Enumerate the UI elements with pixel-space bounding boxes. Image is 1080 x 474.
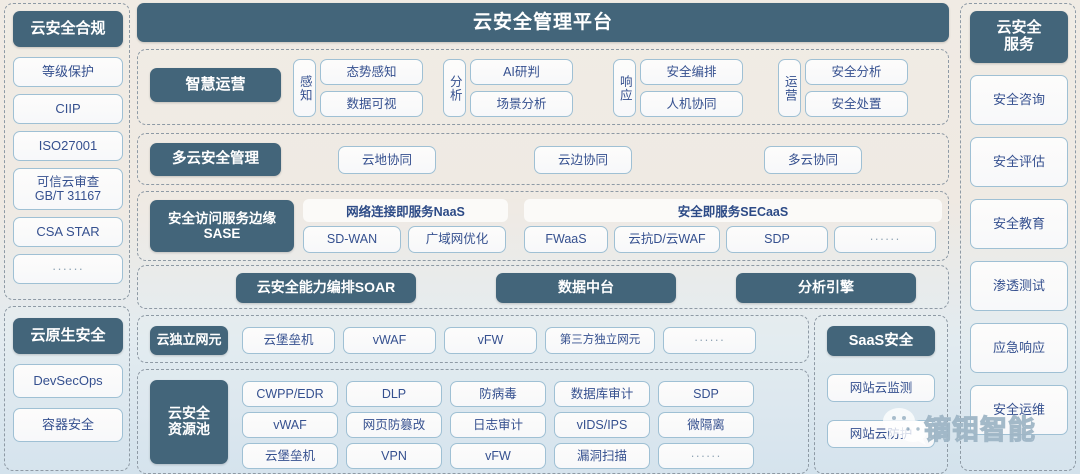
resource-pool-label: 云安全 资源池	[150, 380, 228, 464]
service-item-emergency-response[interactable]: 应急响应	[970, 323, 1068, 373]
ops-chip-security-disposal[interactable]: 安全处置	[805, 91, 908, 117]
ne-chip-vwaf[interactable]: vWAF	[343, 327, 436, 354]
pool-chip-db-audit[interactable]: 数据库审计	[554, 381, 650, 407]
service-item-security-consulting[interactable]: 安全咨询	[970, 75, 1068, 125]
ne-chip-more[interactable]: ······	[663, 327, 756, 354]
compliance-item-trusted-cloud[interactable]: 可信云审查 GB/T 31167	[13, 168, 123, 210]
pool-chip-vids-ips[interactable]: vIDS/IPS	[554, 412, 650, 438]
service-item-security-assessment[interactable]: 安全评估	[970, 137, 1068, 187]
ops-vertical-label-response: 响应	[613, 59, 636, 117]
pool-chip-vfw[interactable]: vFW	[450, 443, 546, 469]
ops-group-response: 响应 安全编排 人机协同	[613, 59, 743, 117]
saas-chip-website-cloud-protection[interactable]: 网站云防护	[827, 420, 935, 448]
ops-group-analysis: 分析 AI研判 场景分析	[443, 59, 573, 117]
compliance-item-more[interactable]: ······	[13, 254, 123, 284]
secaas-chip-anti-ddos-waf[interactable]: 云抗D/云WAF	[614, 226, 720, 253]
pool-chip-dlp[interactable]: DLP	[346, 381, 442, 407]
ops-vertical-label-analysis: 分析	[443, 59, 466, 117]
ops-vertical-label-operations: 运营	[778, 59, 801, 117]
pool-chip-antivirus[interactable]: 防病毒	[450, 381, 546, 407]
pool-chip-bastion-host[interactable]: 云堡垒机	[242, 443, 338, 469]
naas-band-label: 网络连接即服务NaaS	[303, 199, 508, 222]
cloud-native-group-header: 云原生安全	[13, 318, 123, 354]
saas-security-header: SaaS安全	[827, 326, 935, 356]
soar-row: 云安全能力编排SOAR 数据中台 分析引擎	[137, 265, 949, 309]
secaas-chip-sdp[interactable]: SDP	[726, 226, 828, 253]
pool-chip-vwaf[interactable]: vWAF	[242, 412, 338, 438]
saas-chip-website-cloud-monitoring[interactable]: 网站云监测	[827, 374, 935, 402]
cloud-security-architecture-diagram: 云安全合规 等级保护 CIIP ISO27001 可信云审查 GB/T 3116…	[0, 0, 1080, 474]
service-item-penetration-testing[interactable]: 渗透测试	[970, 261, 1068, 311]
secaas-chip-more[interactable]: ······	[834, 226, 936, 253]
ops-vertical-label-perception: 感知	[293, 59, 316, 117]
compliance-item-iso27001[interactable]: ISO27001	[13, 131, 123, 161]
cloud-network-element-label: 云独立网元	[150, 326, 228, 355]
smart-operations-label: 智慧运营	[150, 68, 281, 102]
pool-chip-sdp[interactable]: SDP	[658, 381, 754, 407]
cloud-security-service-header: 云安全 服务	[970, 11, 1068, 63]
naas-chip-wan-optimization[interactable]: 广域网优化	[408, 226, 506, 253]
multi-cloud-chip-multi-cloud[interactable]: 多云协同	[764, 146, 862, 174]
compliance-group-header: 云安全合规	[13, 11, 123, 47]
compliance-item-csa-star[interactable]: CSA STAR	[13, 217, 123, 247]
multi-cloud-management-row: 多云安全管理 云地协同 云边协同 多云协同	[137, 133, 949, 185]
secaas-chip-fwaas[interactable]: FWaaS	[524, 226, 608, 253]
cloud-native-item-devsecops[interactable]: DevSecOps	[13, 364, 123, 398]
sase-row: 安全访问服务边缘 SASE 网络连接即服务NaaS SD-WAN 广域网优化 安…	[137, 191, 949, 261]
cloud-security-resource-pool-row: 云安全 资源池 CWPP/EDR DLP 防病毒 数据库审计 SDP vWAF …	[137, 369, 809, 474]
secaas-column: 安全即服务SECaaS FWaaS 云抗D/云WAF SDP ······	[524, 199, 942, 255]
ne-chip-vfw[interactable]: vFW	[444, 327, 537, 354]
saas-security-group: SaaS安全 网站云监测 网站云防护	[814, 315, 948, 474]
ops-chip-security-analytics[interactable]: 安全分析	[805, 59, 908, 85]
cloud-network-element-row: 云独立网元 云堡垒机 vWAF vFW 第三方独立网元 ······	[137, 315, 809, 363]
pool-chip-web-tamper[interactable]: 网页防篡改	[346, 412, 442, 438]
pool-chip-log-audit[interactable]: 日志审计	[450, 412, 546, 438]
left-rail: 云安全合规 等级保护 CIIP ISO27001 可信云审查 GB/T 3116…	[4, 3, 130, 471]
ops-chip-data-visualization[interactable]: 数据可视	[320, 91, 423, 117]
ops-chip-scenario-analysis[interactable]: 场景分析	[470, 91, 573, 117]
naas-column: 网络连接即服务NaaS SD-WAN 广域网优化	[303, 199, 508, 255]
soar-chip-cloud-orchestration[interactable]: 云安全能力编排SOAR	[236, 273, 416, 303]
service-item-security-operations[interactable]: 安全运维	[970, 385, 1068, 435]
soar-chip-analysis-engine[interactable]: 分析引擎	[736, 273, 916, 303]
ops-chip-human-machine-collab[interactable]: 人机协同	[640, 91, 743, 117]
page-title: 云安全管理平台	[137, 3, 949, 42]
secaas-band-label: 安全即服务SECaaS	[524, 199, 942, 222]
ne-chip-third-party[interactable]: 第三方独立网元	[545, 327, 655, 354]
ops-group-perception: 感知 态势感知 数据可视	[293, 59, 423, 117]
multi-cloud-chip-cloud-edge[interactable]: 云边协同	[534, 146, 632, 174]
soar-chip-data-platform[interactable]: 数据中台	[496, 273, 676, 303]
multi-cloud-label: 多云安全管理	[150, 143, 281, 176]
cloud-native-item-container-security[interactable]: 容器安全	[13, 408, 123, 442]
pool-chip-vuln-scan[interactable]: 漏洞扫描	[554, 443, 650, 469]
smart-operations-row: 智慧运营 感知 态势感知 数据可视 分析 AI研判 场景分析 响应 安全编排	[137, 49, 949, 125]
naas-chip-sd-wan[interactable]: SD-WAN	[303, 226, 401, 253]
cloud-native-security-group: 云原生安全 DevSecOps 容器安全	[4, 306, 130, 471]
pool-chip-vpn[interactable]: VPN	[346, 443, 442, 469]
sase-label: 安全访问服务边缘 SASE	[150, 200, 294, 252]
ops-chip-situational-awareness[interactable]: 态势感知	[320, 59, 423, 85]
ne-chip-bastion-host[interactable]: 云堡垒机	[242, 327, 335, 354]
multi-cloud-chip-cloud-ground[interactable]: 云地协同	[338, 146, 436, 174]
ops-chip-ai-judgement[interactable]: AI研判	[470, 59, 573, 85]
compliance-item-ciip[interactable]: CIIP	[13, 94, 123, 124]
pool-chip-cwpp-edr[interactable]: CWPP/EDR	[242, 381, 338, 407]
compliance-item-dengbao[interactable]: 等级保护	[13, 57, 123, 87]
right-rail: 云安全 服务 安全咨询 安全评估 安全教育 渗透测试 应急响应 安全运维	[960, 3, 1076, 471]
compliance-group: 云安全合规 等级保护 CIIP ISO27001 可信云审查 GB/T 3116…	[4, 3, 130, 300]
ops-group-operations: 运营 安全分析 安全处置	[778, 59, 908, 117]
pool-chip-micro-segment[interactable]: 微隔离	[658, 412, 754, 438]
center-column: 云安全管理平台 智慧运营 感知 态势感知 数据可视 分析 AI研判 场景分析 响…	[136, 3, 954, 471]
pool-chip-more[interactable]: ······	[658, 443, 754, 469]
ops-chip-security-orchestration[interactable]: 安全编排	[640, 59, 743, 85]
service-item-security-education[interactable]: 安全教育	[970, 199, 1068, 249]
